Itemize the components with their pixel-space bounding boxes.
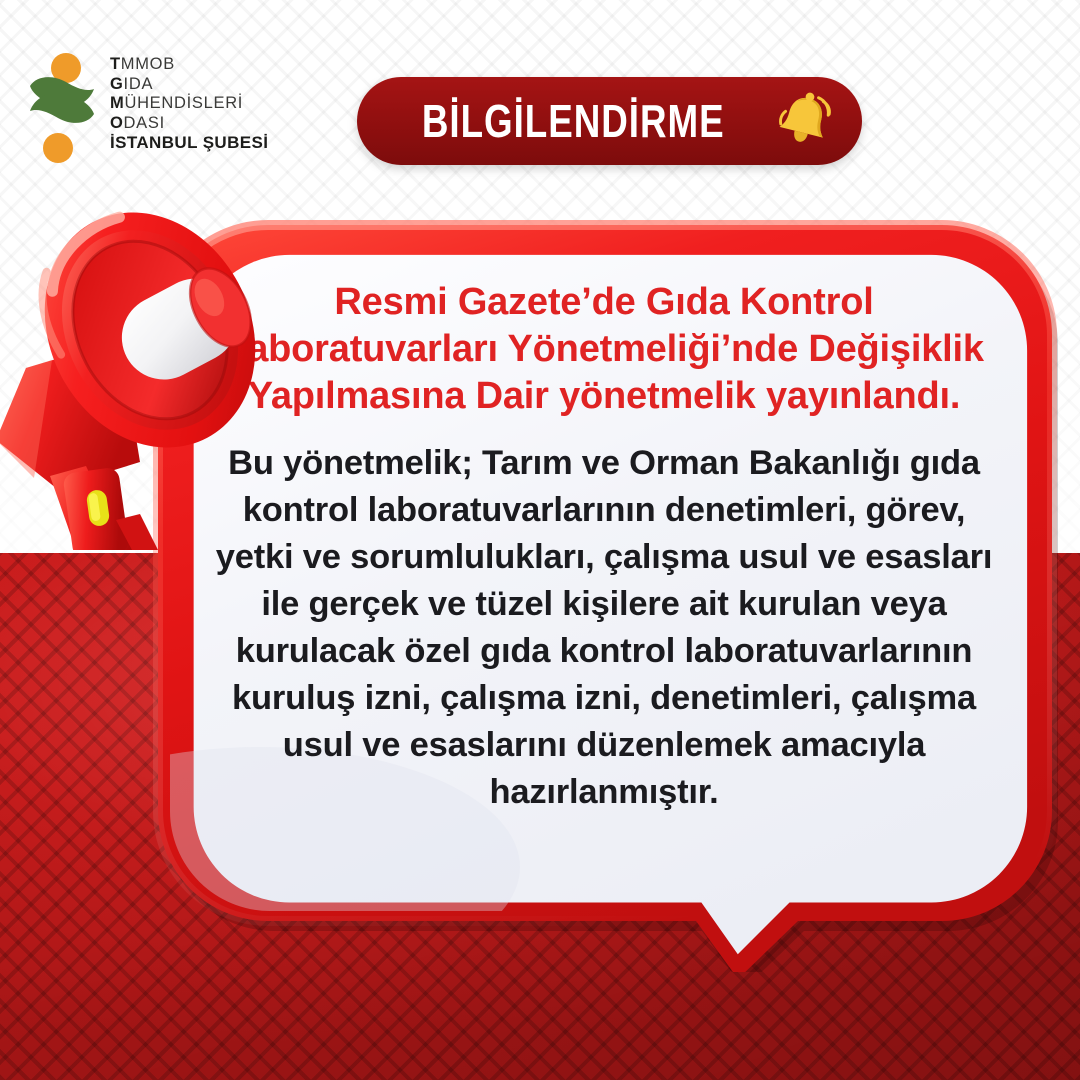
announcement-badge: BİLGİLENDİRME [357,77,862,165]
poster-canvas: TMMOB GIDA MÜHENDİSLERİ ODASI İSTANBUL Ş… [0,0,1080,1080]
logo-text-block: TMMOB GIDA MÜHENDİSLERİ ODASI İSTANBUL Ş… [110,52,268,153]
logo-rest-text: IDA [124,75,154,93]
body-text: Bu yönetmelik; Tarım ve Orman Bakanlığı … [204,440,1004,816]
logo-line-branch: İSTANBUL ŞUBESİ [110,133,268,153]
announcement-badge-label: BİLGİLENDİRME [422,94,725,148]
logo-lead-letter: T [110,55,121,73]
headline-text: Resmi Gazete’de Gıda Kontrol Laboratuvar… [224,279,984,420]
logo-line-tmmob: TMMOB [110,55,268,75]
megaphone-icon [0,190,320,550]
organization-logo: TMMOB GIDA MÜHENDİSLERİ ODASI İSTANBUL Ş… [26,52,268,164]
tmmob-leaf-logo-icon [26,52,98,164]
logo-rest-text: ÜHENDİSLERİ [124,94,243,112]
bell-icon [773,90,835,152]
logo-lead-letter: G [110,75,124,93]
logo-rest-text: MMOB [121,55,175,73]
logo-lead-letter: M [110,94,124,112]
logo-rest-text: DASI [124,114,165,132]
logo-lead-letter: O [110,114,124,132]
logo-line-odasi: ODASI [110,114,268,134]
logo-line-gida: GIDA [110,75,268,95]
logo-line-muhendisleri: MÜHENDİSLERİ [110,94,268,114]
